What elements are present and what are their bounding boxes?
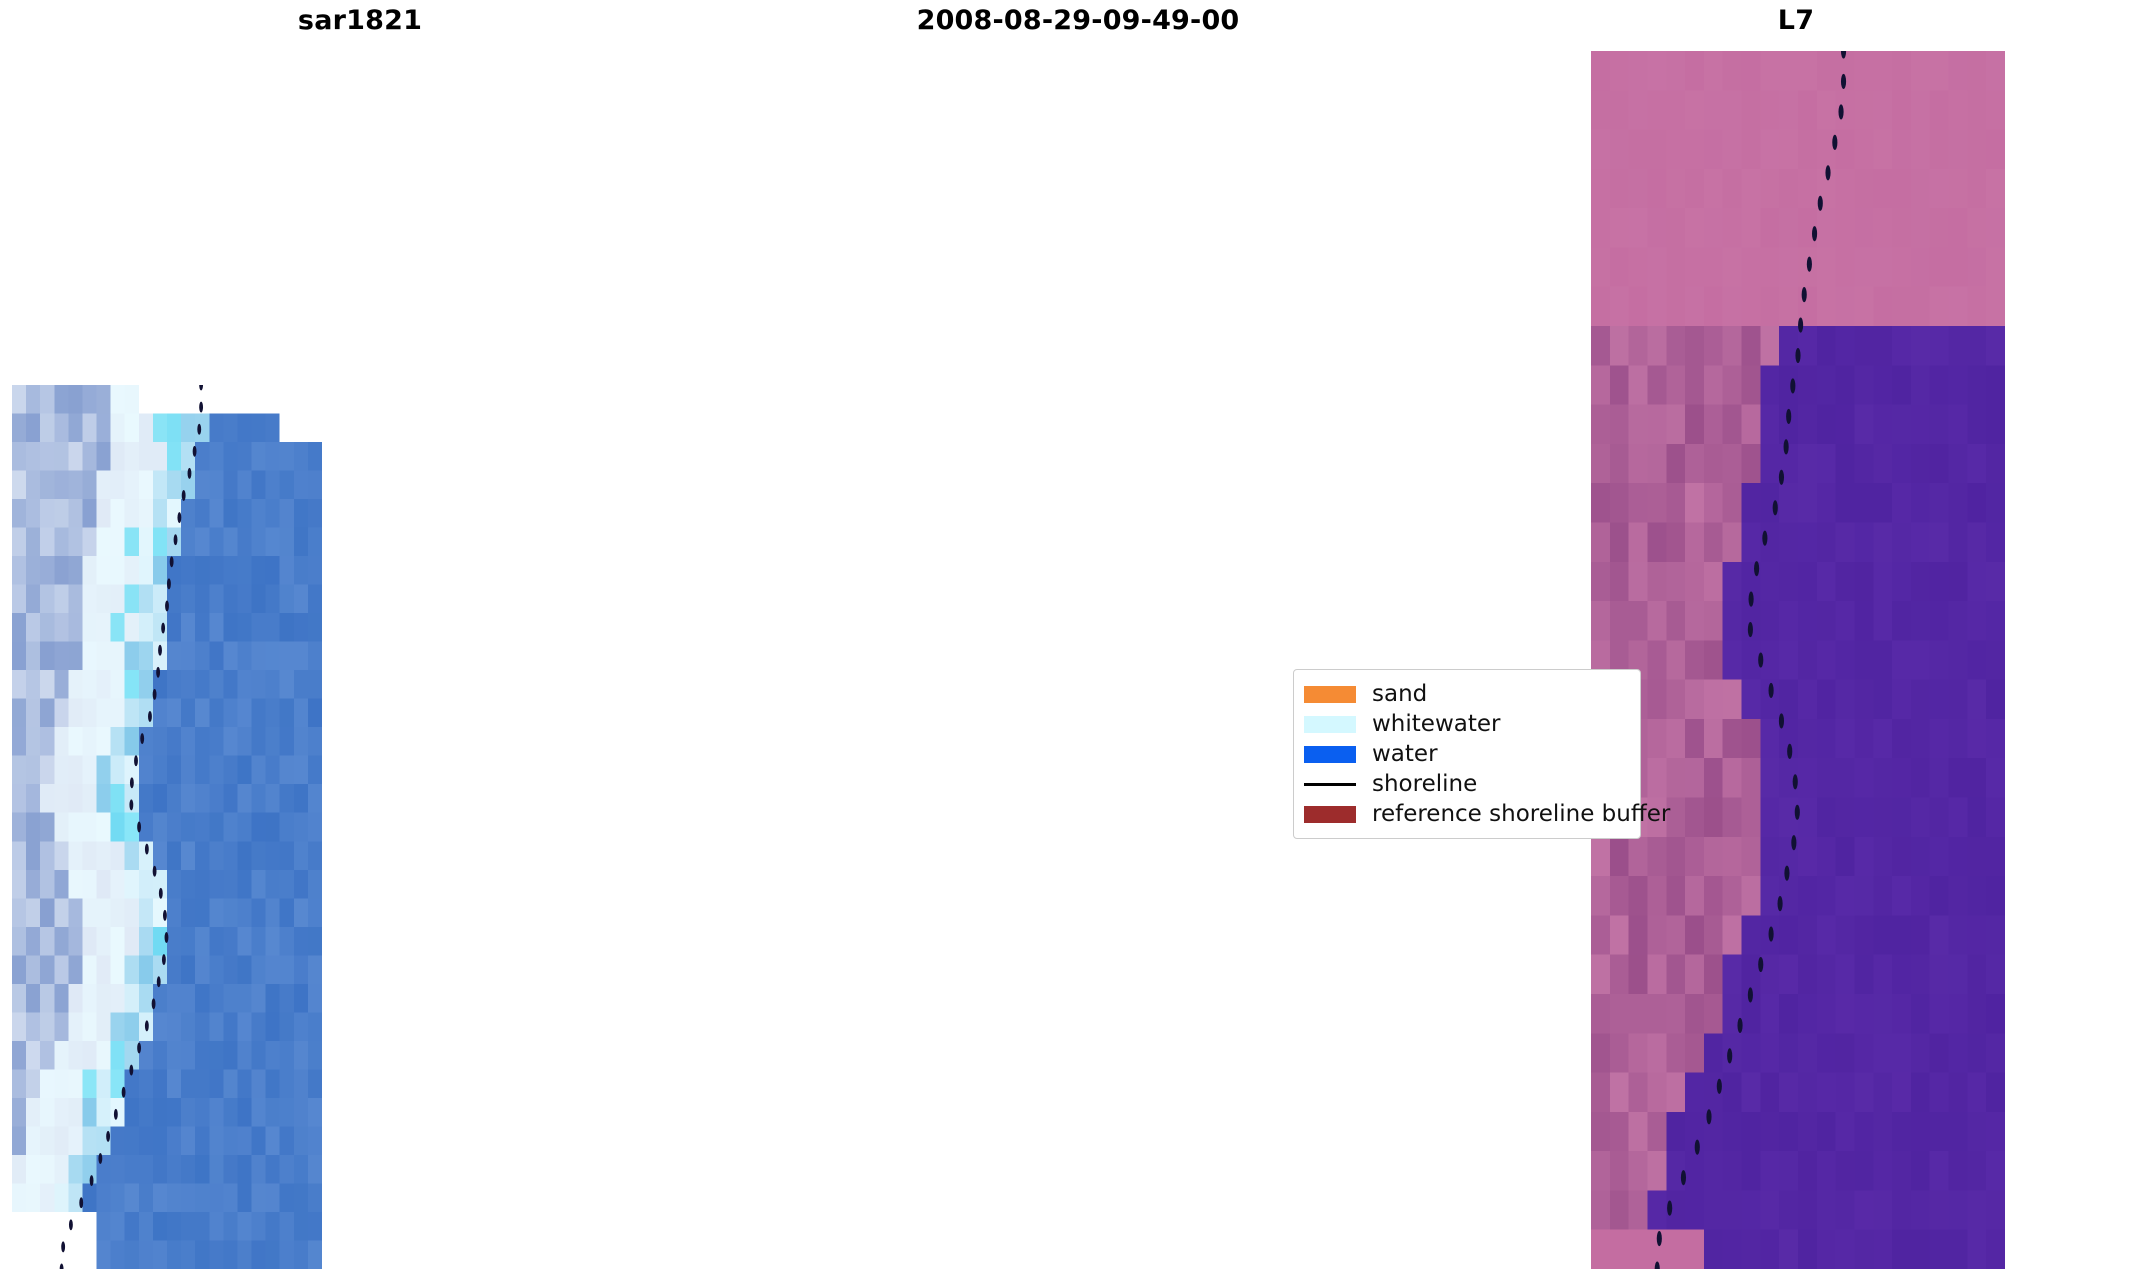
shoreline-overlay-sar1821	[12, 385, 322, 1269]
legend-swatch-water	[1304, 746, 1356, 763]
legend-item-sand: sand	[1304, 679, 1628, 709]
legend-label-shoreline: shoreline	[1372, 769, 1477, 799]
panel-title-sar1821: sar1821	[0, 4, 720, 38]
legend-item-whitewater: whitewater	[1304, 709, 1628, 739]
legend-item-shoreline: shoreline	[1304, 769, 1628, 799]
legend-item-water: water	[1304, 739, 1628, 769]
legend-item-reference-shoreline-buffer: reference shoreline buffer	[1304, 799, 1628, 829]
legend-swatch-sand	[1304, 686, 1356, 703]
legend-label-water: water	[1372, 739, 1438, 769]
legend-box: sand whitewater water shoreline referenc…	[1293, 669, 1641, 839]
legend-swatch-whitewater	[1304, 716, 1356, 733]
legend-label-reference-shoreline-buffer: reference shoreline buffer	[1372, 799, 1670, 829]
panel-sar1821: sar1821	[0, 0, 720, 1283]
legend-swatch-shoreline	[1304, 776, 1356, 793]
legend-swatch-reference-shoreline-buffer	[1304, 806, 1356, 823]
panel-title-l7: L7	[1436, 4, 2156, 38]
figure-canvas: sar1821 2008-08-29-09-49-00 L7	[0, 0, 2156, 1283]
panel-l7: L7	[1436, 0, 2156, 1283]
axes-sar1821	[12, 385, 322, 1269]
legend-label-sand: sand	[1372, 679, 1427, 709]
panel-rgb-composite: 2008-08-29-09-49-00	[718, 0, 1438, 1283]
legend-label-whitewater: whitewater	[1372, 709, 1500, 739]
panel-title-rgb-composite: 2008-08-29-09-49-00	[718, 4, 1438, 38]
